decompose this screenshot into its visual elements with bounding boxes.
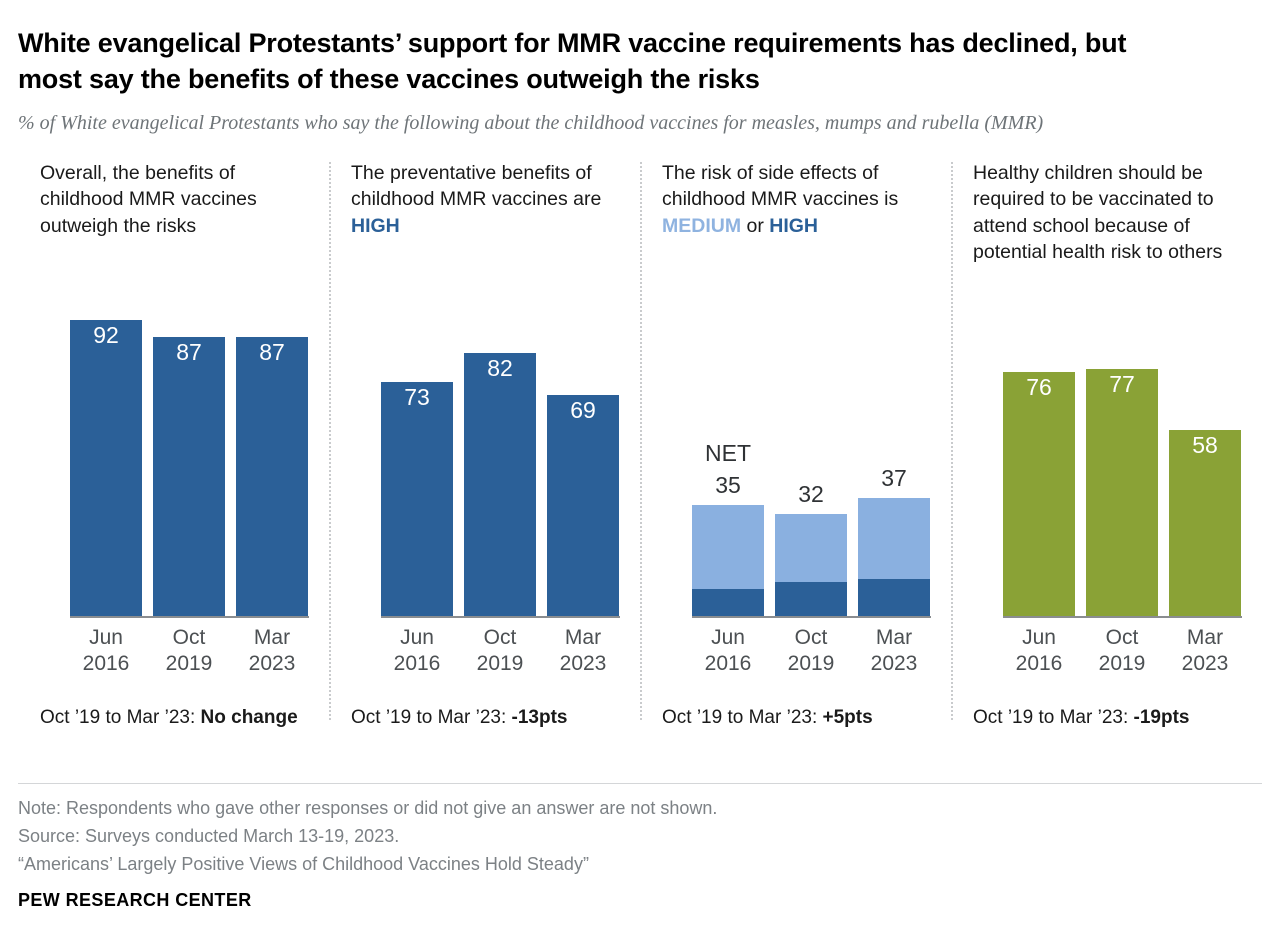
x-tick-line: 2016 — [692, 651, 764, 677]
bar-value-label: 87 — [153, 341, 225, 364]
bars-container: 767758 — [1003, 298, 1242, 618]
panel-heading: The risk of side effects of childhood MM… — [662, 160, 941, 278]
bar-segment-medium[interactable] — [858, 498, 930, 579]
pew-research-center-brand: PEW RESEARCH CENTER — [18, 890, 252, 911]
chart-page: White evangelical Protestants’ support f… — [0, 0, 1280, 950]
plot-area: 35NET3237 — [662, 278, 941, 618]
bar[interactable]: 87 — [236, 337, 308, 618]
source-line: Source: Surveys conducted March 13-19, 2… — [18, 823, 717, 851]
x-tick-label: Mar2023 — [236, 625, 308, 678]
change-prefix: Oct ’19 to Mar ’23: — [351, 707, 512, 728]
x-tick-line: Mar — [1169, 625, 1241, 651]
x-tick-line: 2016 — [70, 651, 142, 677]
bar-segment-high[interactable] — [858, 579, 930, 618]
bar-segment-high[interactable] — [775, 582, 847, 618]
x-axis-labels: Jun2016Oct2019Mar2023 — [692, 625, 971, 678]
x-tick-line: Jun — [1003, 625, 1075, 651]
panel-3: The risk of side effects of childhood MM… — [640, 160, 951, 720]
x-tick-line: Mar — [236, 625, 308, 651]
heading-part-2: MEDIUM — [662, 215, 741, 237]
x-tick-line: 2019 — [464, 651, 536, 677]
bar-group[interactable]: 87 — [236, 298, 308, 618]
x-tick-line: Mar — [858, 625, 930, 651]
change-value: No change — [201, 707, 298, 728]
footer-divider — [18, 783, 1262, 784]
x-axis-labels: Jun2016Oct2019Mar2023 — [70, 625, 349, 678]
x-tick-line: Oct — [464, 625, 536, 651]
bar[interactable]: 87 — [153, 337, 225, 618]
bar[interactable]: 77 — [1086, 369, 1158, 618]
report-line: “Americans’ Largely Positive Views of Ch… — [18, 851, 717, 879]
bar[interactable]: 73 — [381, 382, 453, 618]
x-tick-line: Oct — [1086, 625, 1158, 651]
x-tick-line: 2019 — [153, 651, 225, 677]
panel-change-note: Oct ’19 to Mar ’23: -19pts — [973, 707, 1252, 729]
page-title: White evangelical Protestants’ support f… — [18, 0, 1188, 97]
change-prefix: Oct ’19 to Mar ’23: — [40, 707, 201, 728]
panel-1: Overall, the benefits of childhood MMR v… — [18, 160, 329, 720]
bar-value-label: 82 — [464, 357, 536, 380]
x-tick-line: 2019 — [1086, 651, 1158, 677]
bar[interactable]: 76 — [1003, 372, 1075, 617]
x-tick-line: 2019 — [775, 651, 847, 677]
x-axis-line — [692, 616, 931, 618]
bar-value-label: 87 — [236, 341, 308, 364]
x-tick-label: Mar2023 — [1169, 625, 1241, 678]
change-prefix: Oct ’19 to Mar ’23: — [973, 707, 1134, 728]
heading-part-1: The preventative benefits of childhood M… — [351, 162, 601, 211]
bar-value-label: 32 — [771, 483, 851, 506]
x-tick-label: Oct2019 — [153, 625, 225, 678]
panel-heading: Overall, the benefits of childhood MMR v… — [40, 160, 319, 278]
bar-group[interactable]: 73 — [381, 298, 453, 618]
x-tick-line: 2023 — [547, 651, 619, 677]
change-prefix: Oct ’19 to Mar ’23: — [662, 707, 823, 728]
x-tick-line: 2016 — [381, 651, 453, 677]
bar-segment-high[interactable] — [692, 589, 764, 618]
x-tick-line: Oct — [153, 625, 225, 651]
bar[interactable]: 69 — [547, 395, 619, 618]
panel-4: Healthy children should be required to b… — [951, 160, 1262, 720]
bars-container: 35NET3237 — [692, 298, 931, 618]
x-axis-labels: Jun2016Oct2019Mar2023 — [381, 625, 660, 678]
bar-group[interactable]: 87 — [153, 298, 225, 618]
panel-2: The preventative benefits of childhood M… — [329, 160, 640, 720]
page-subtitle: % of White evangelical Protestants who s… — [18, 109, 1218, 137]
stacked-bar[interactable]: 35NET — [692, 505, 764, 618]
bar-group[interactable]: 92 — [70, 298, 142, 618]
change-value: +5pts — [823, 707, 873, 728]
heading-part-3: or — [741, 215, 769, 237]
x-tick-label: Jun2016 — [70, 625, 142, 678]
heading-part-4: HIGH — [769, 215, 818, 237]
panel-heading: Healthy children should be required to b… — [973, 160, 1252, 278]
bar-segment-medium[interactable] — [775, 514, 847, 582]
bar-value-label: 73 — [381, 386, 453, 409]
x-tick-line: Mar — [547, 625, 619, 651]
stacked-bar[interactable]: 32 — [775, 514, 847, 617]
panel-change-note: Oct ’19 to Mar ’23: +5pts — [662, 707, 941, 729]
x-tick-line: 2016 — [1003, 651, 1075, 677]
bar-value-label: 37 — [854, 467, 934, 490]
panel-row: Overall, the benefits of childhood MMR v… — [18, 160, 1262, 720]
x-tick-label: Mar2023 — [547, 625, 619, 678]
bar-value-label: 58 — [1169, 434, 1241, 457]
bar-value-label: 69 — [547, 399, 619, 422]
x-axis-line — [381, 616, 620, 618]
heading-part-2: HIGH — [351, 215, 400, 237]
note-line: Note: Respondents who gave other respons… — [18, 795, 717, 823]
x-tick-line: 2023 — [236, 651, 308, 677]
bar-group[interactable]: 58 — [1169, 298, 1241, 618]
stacked-bar[interactable]: 37 — [858, 498, 930, 618]
plot-area: 738269 — [351, 278, 630, 618]
footer-notes: Note: Respondents who gave other respons… — [18, 795, 717, 879]
bars-container: 928787 — [70, 298, 309, 618]
bar-group[interactable]: 37 — [858, 298, 930, 618]
bar-group[interactable]: 32 — [775, 298, 847, 618]
bar[interactable]: 92 — [70, 320, 142, 617]
bar-value-label: 92 — [70, 324, 142, 347]
heading-part-1: The risk of side effects of childhood MM… — [662, 162, 898, 211]
panel-change-note: Oct ’19 to Mar ’23: -13pts — [351, 707, 630, 729]
x-tick-label: Oct2019 — [464, 625, 536, 678]
bar-group[interactable]: 82 — [464, 298, 536, 618]
change-value: -13pts — [512, 707, 568, 728]
x-tick-label: Mar2023 — [858, 625, 930, 678]
x-tick-label: Jun2016 — [1003, 625, 1075, 678]
heading-part-1: Healthy children should be required to b… — [973, 162, 1222, 264]
x-tick-label: Jun2016 — [381, 625, 453, 678]
bar-group[interactable]: 76 — [1003, 298, 1075, 618]
bar-group[interactable]: 69 — [547, 298, 619, 618]
x-tick-label: Oct2019 — [775, 625, 847, 678]
plot-area: 928787 — [40, 278, 319, 618]
x-tick-label: Oct2019 — [1086, 625, 1158, 678]
bar-group[interactable]: 77 — [1086, 298, 1158, 618]
x-tick-line: Oct — [775, 625, 847, 651]
bar-value-label: 35 — [688, 474, 768, 497]
heading-part-1: Overall, the benefits of childhood MMR v… — [40, 162, 257, 237]
x-axis-line — [70, 616, 309, 618]
bar[interactable]: 58 — [1169, 430, 1241, 617]
change-value: -19pts — [1134, 707, 1190, 728]
x-tick-line: Jun — [381, 625, 453, 651]
bar-segment-medium[interactable] — [692, 505, 764, 589]
x-axis-line — [1003, 616, 1242, 618]
x-tick-line: 2023 — [1169, 651, 1241, 677]
bar-value-label: 76 — [1003, 376, 1075, 399]
plot-area: 767758 — [973, 278, 1252, 618]
bars-container: 738269 — [381, 298, 620, 618]
x-tick-line: 2023 — [858, 651, 930, 677]
x-tick-line: Jun — [70, 625, 142, 651]
x-axis-labels: Jun2016Oct2019Mar2023 — [1003, 625, 1280, 678]
net-label: NET — [688, 442, 768, 465]
panel-heading: The preventative benefits of childhood M… — [351, 160, 630, 278]
x-tick-label: Jun2016 — [692, 625, 764, 678]
panel-change-note: Oct ’19 to Mar ’23: No change — [40, 707, 319, 729]
bar-value-label: 77 — [1086, 373, 1158, 396]
bar-group[interactable]: 35NET — [692, 298, 764, 618]
bar[interactable]: 82 — [464, 353, 536, 618]
x-tick-line: Jun — [692, 625, 764, 651]
